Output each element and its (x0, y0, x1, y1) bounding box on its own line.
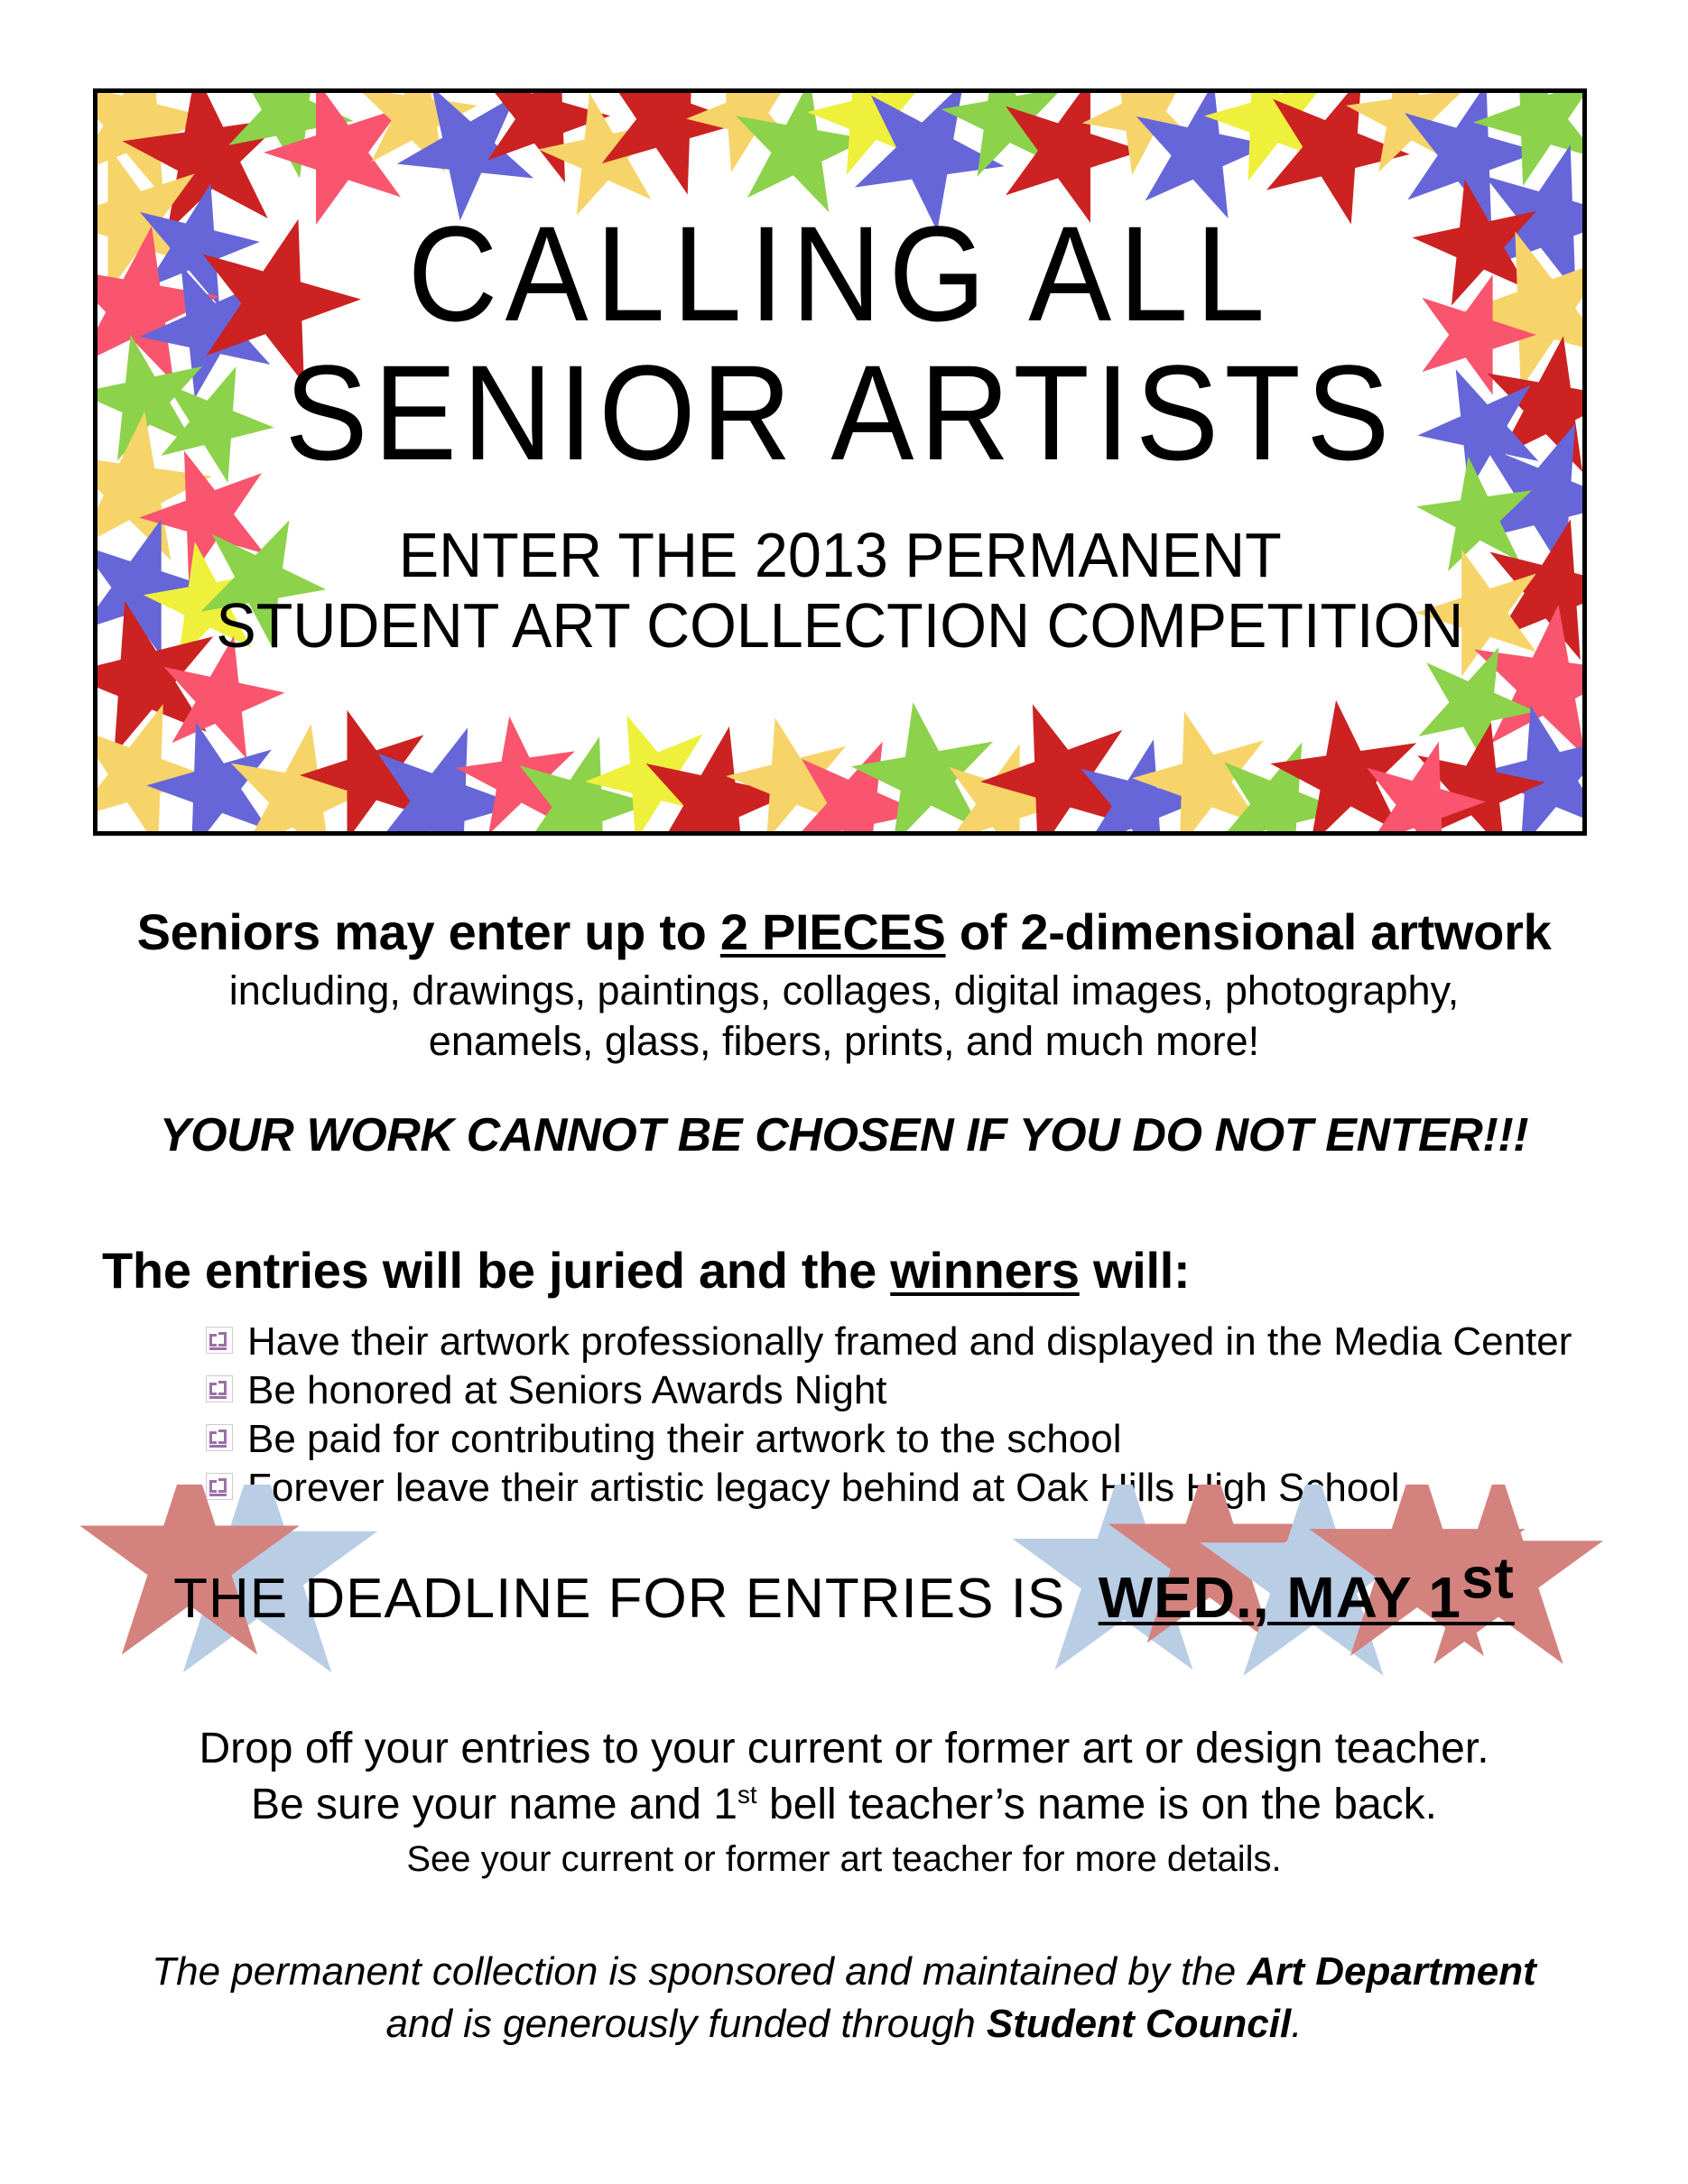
banner-subtitle-line-2: STUDENT ART COLLECTION COMPETITION (217, 590, 1464, 661)
list-item-label: Be paid for contributing their artwork t… (247, 1416, 1122, 1462)
broken-image-icon (206, 1375, 233, 1402)
sponsor-student-council: Student Council (987, 2002, 1291, 2046)
list-item: Be paid for contributing their artwork t… (206, 1416, 1560, 1462)
deadline-band: THE DEADLINE FOR ENTRIES IS WED., MAY 1s… (0, 1485, 1688, 1710)
jury-heading-prefix: The entries will be juried and the (102, 1242, 890, 1299)
dropoff-line-3: See your current or former art teacher f… (0, 1839, 1688, 1880)
broken-image-icon (206, 1424, 233, 1451)
list-item: Be honored at Seniors Awards Night (206, 1367, 1560, 1413)
entry-rule-emphasis: 2 PIECES (720, 903, 946, 960)
sponsor-line-2-suffix: . (1291, 2002, 1302, 2046)
deadline-date: WED., MAY 1 (1099, 1565, 1461, 1630)
entry-rule-detail-1: including, drawings, paintings, collages… (0, 967, 1688, 1014)
entry-rule-detail-2: enamels, glass, fibers, prints, and much… (0, 1018, 1688, 1065)
banner-subtitle-line-1: ENTER THE 2013 PERMANENT (398, 520, 1281, 590)
entry-rule-headline-prefix: Seniors may enter up to (137, 903, 720, 960)
sponsor-line-1-prefix: The permanent collection is sponsored an… (152, 1949, 1247, 1994)
dropoff-line-2-prefix: Be sure your name and 1 (251, 1781, 737, 1828)
entry-rule-headline: Seniors may enter up to 2 PIECES of 2-di… (0, 902, 1688, 961)
sponsor-line-2-prefix: and is generously funded through (386, 2002, 987, 2046)
sponsor-art-department: Art Department (1247, 1949, 1535, 1994)
entry-rule-headline-suffix: of 2-dimensional artwork (946, 903, 1552, 960)
dropoff-line-2: Be sure your name and 1st bell teacher’s… (0, 1780, 1688, 1829)
list-item-label: Be honored at Seniors Awards Night (247, 1367, 887, 1413)
jury-heading: The entries will be juried and the winne… (0, 1241, 1688, 1300)
jury-heading-suffix: will: (1080, 1242, 1191, 1299)
jury-heading-emphasis: winners (890, 1242, 1080, 1299)
deadline-text: THE DEADLINE FOR ENTRIES IS WED., MAY 1s… (0, 1564, 1688, 1631)
list-item: Have their artwork professionally framed… (206, 1319, 1560, 1365)
sponsor-line-1: The permanent collection is sponsored an… (0, 1949, 1688, 1994)
sponsor-line-2: and is generously funded through Student… (0, 2002, 1688, 2047)
deadline-date-ordinal: st (1461, 1545, 1515, 1610)
dropoff-line-1: Drop off your entries to your current or… (0, 1724, 1688, 1773)
flyer-page: CALLING ALL SENIOR ARTISTS ENTER THE 201… (0, 0, 1688, 2184)
warning-text: YOUR WORK CANNOT BE CHOSEN IF YOU DO NOT… (0, 1108, 1688, 1162)
dropoff-line-2-suffix: bell teacher’s name is on the back. (757, 1781, 1437, 1828)
dropoff-line-2-ordinal: st (737, 1781, 757, 1809)
deadline-lead-text: THE DEADLINE FOR ENTRIES IS (173, 1568, 1065, 1630)
broken-image-icon (206, 1327, 233, 1354)
banner-title-line-2: SENIOR ARTISTS (284, 347, 1395, 479)
list-item-label: Have their artwork professionally framed… (247, 1319, 1572, 1365)
banner-title-line-1: CALLING ALL (408, 208, 1273, 340)
title-banner: CALLING ALL SENIOR ARTISTS ENTER THE 201… (93, 88, 1587, 836)
